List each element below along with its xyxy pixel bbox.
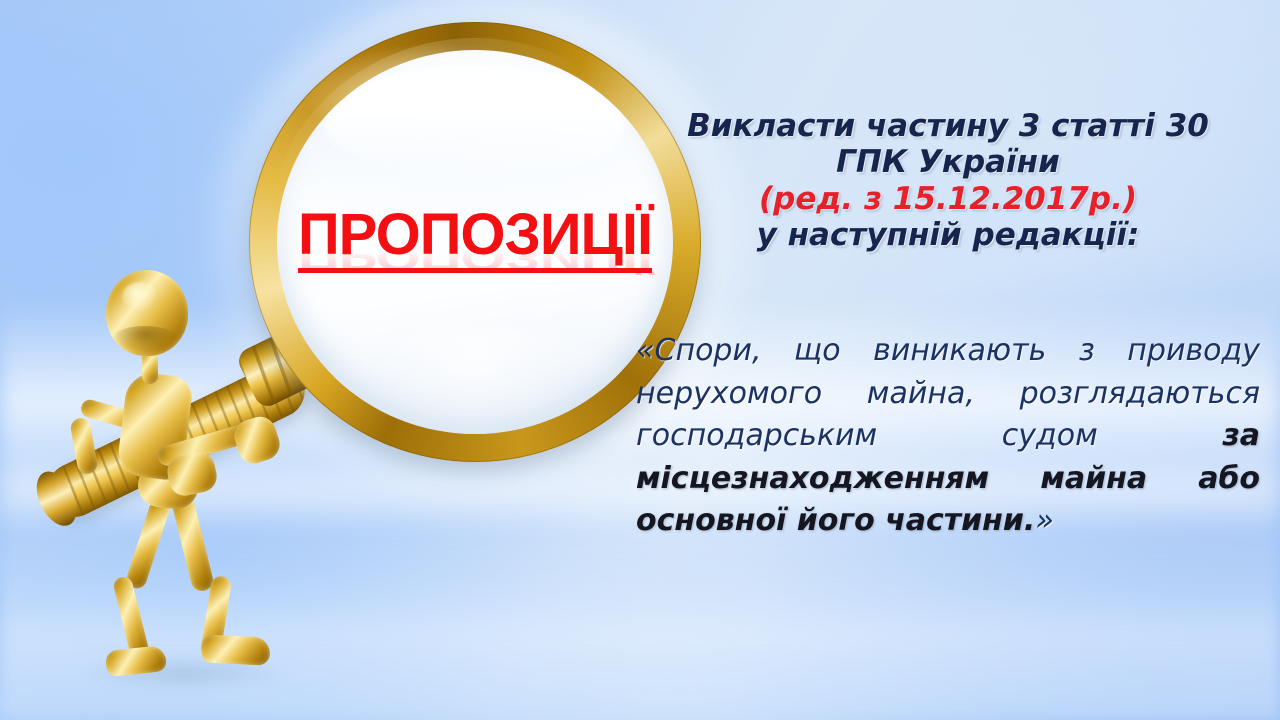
magnifier-lens: ПРОПОЗИЦІЇ ПРОПОЗИЦІЇ: [249, 22, 701, 462]
open-guillemet: «: [636, 333, 655, 368]
figure-back-forearm: [69, 417, 98, 476]
glass-bottom-glow: [301, 326, 649, 434]
figure-head-highlight: [122, 282, 158, 312]
figure-head-shading: [112, 326, 178, 352]
heading-line-2: ГПК України: [636, 144, 1260, 180]
lens-title-reflection: ПРОПОЗИЦІЇ: [277, 239, 673, 275]
lens-title-block: ПРОПОЗИЦІЇ ПРОПОЗИЦІЇ: [277, 206, 673, 333]
figure-right-foot: [201, 634, 270, 666]
figure-left-thigh: [124, 497, 171, 591]
magnifier-glass: ПРОПОЗИЦІЇ ПРОПОЗИЦІЇ: [277, 50, 673, 434]
slide-canvas: ПРОПОЗИЦІЇ ПРОПОЗИЦІЇ Викласти частину 3…: [0, 0, 1280, 720]
figure-right-thigh: [171, 495, 216, 593]
slide-heading: Викласти частину 3 статті 30 ГПК України…: [636, 108, 1260, 253]
heading-line-4: у наступній редакції:: [636, 217, 1260, 253]
quote-normal-part: Спори, що виникають з приводу нерухомого…: [636, 333, 1260, 453]
glass-top-highlight: [325, 65, 626, 180]
heading-line-3-edition-date: (ред. з 15.12.2017р.): [636, 181, 1260, 217]
slide-body-quote: «Спори, що виникають з приводу нерухомог…: [636, 330, 1260, 543]
lens-title-text: ПРОПОЗИЦІЇ: [298, 206, 652, 273]
magnifier-illustration: ПРОПОЗИЦІЇ ПРОПОЗИЦІЇ: [0, 0, 700, 720]
heading-line-1: Викласти частину 3 статті 30: [636, 108, 1260, 144]
close-guillemet: »: [1035, 503, 1054, 538]
